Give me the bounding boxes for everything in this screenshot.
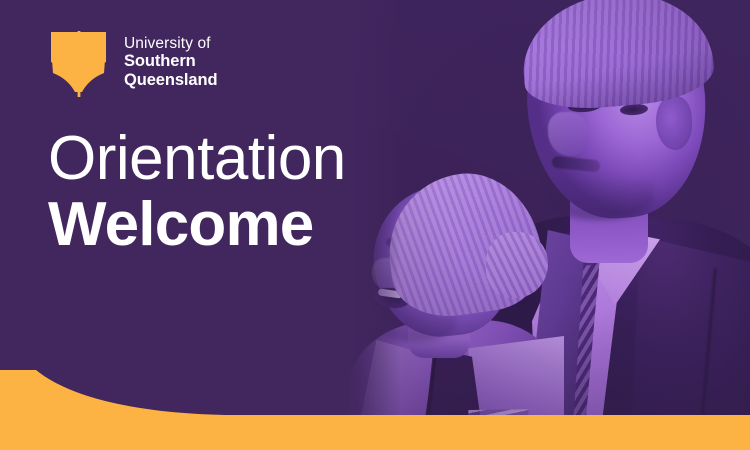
usq-logo-wordmark: University of Southern Queensland xyxy=(124,29,217,89)
orientation-welcome-banner: University of Southern Queensland Orient… xyxy=(0,0,750,450)
page-title: Orientation Welcome xyxy=(48,128,346,257)
logo-line-queensland: Queensland xyxy=(124,71,217,89)
headline-orientation: Orientation xyxy=(48,128,346,190)
man-ear xyxy=(656,96,692,150)
man-nose xyxy=(548,112,588,156)
logo-line-southern: Southern xyxy=(124,52,217,70)
usq-shield-leaf-logo-icon xyxy=(48,29,110,99)
gold-curved-bottom-bar xyxy=(0,370,750,450)
usq-logo[interactable]: University of Southern Queensland xyxy=(48,29,217,99)
woman-hair-bun xyxy=(486,232,548,298)
headline-welcome: Welcome xyxy=(48,192,346,257)
logo-line-university-of: University of xyxy=(124,35,217,52)
